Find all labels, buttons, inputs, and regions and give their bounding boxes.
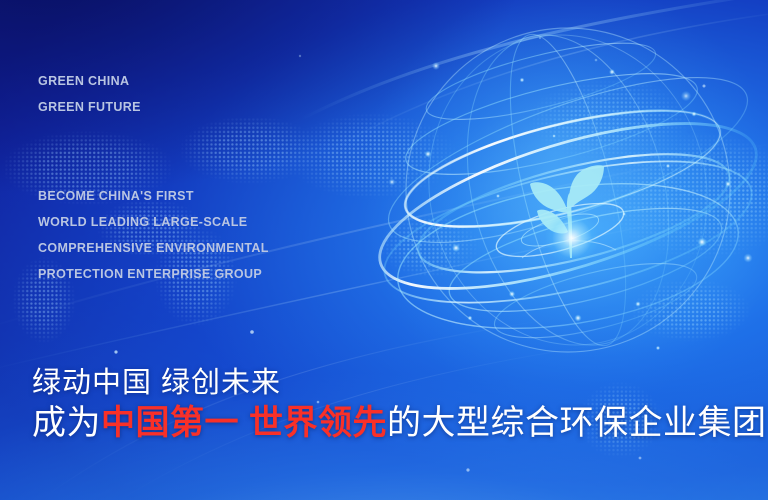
slogan-en-top-line2: GREEN FUTURE [38,94,141,120]
slogan-en-mid-line2: WORLD LEADING LARGE-SCALE [38,209,269,235]
banner-root: GREEN CHINA GREEN FUTURE BECOME CHINA'S … [0,0,768,500]
slogan-cn: 绿动中国 绿创未来 成为中国第一 世界领先的大型综合环保企业集团 [32,366,766,444]
slogan-en-mid-line4: PROTECTION ENTERPRISE GROUP [38,261,269,287]
sprout-base-glow [544,216,600,260]
sprout-seedling-icon [524,158,616,268]
slogan-cn-line1: 绿动中国 绿创未来 [32,366,766,400]
slogan-cn-line2-pre: 成为 [32,404,101,442]
slogan-cn-line2-highlight: 中国第一 世界领先 [101,404,387,442]
slogan-cn-line2: 成为中国第一 世界领先的大型综合环保企业集团 [32,402,766,444]
slogan-en-mid-line1: BECOME CHINA'S FIRST [38,183,269,209]
slogan-cn-line2-post: 的大型综合环保企业集团 [387,404,767,442]
slogan-en-top-line1: GREEN CHINA [38,68,141,94]
slogan-en-top: GREEN CHINA GREEN FUTURE [38,68,141,120]
slogan-en-mid-line3: COMPREHENSIVE ENVIRONMENTAL [38,235,269,261]
slogan-en-mid: BECOME CHINA'S FIRST WORLD LEADING LARGE… [38,183,269,287]
